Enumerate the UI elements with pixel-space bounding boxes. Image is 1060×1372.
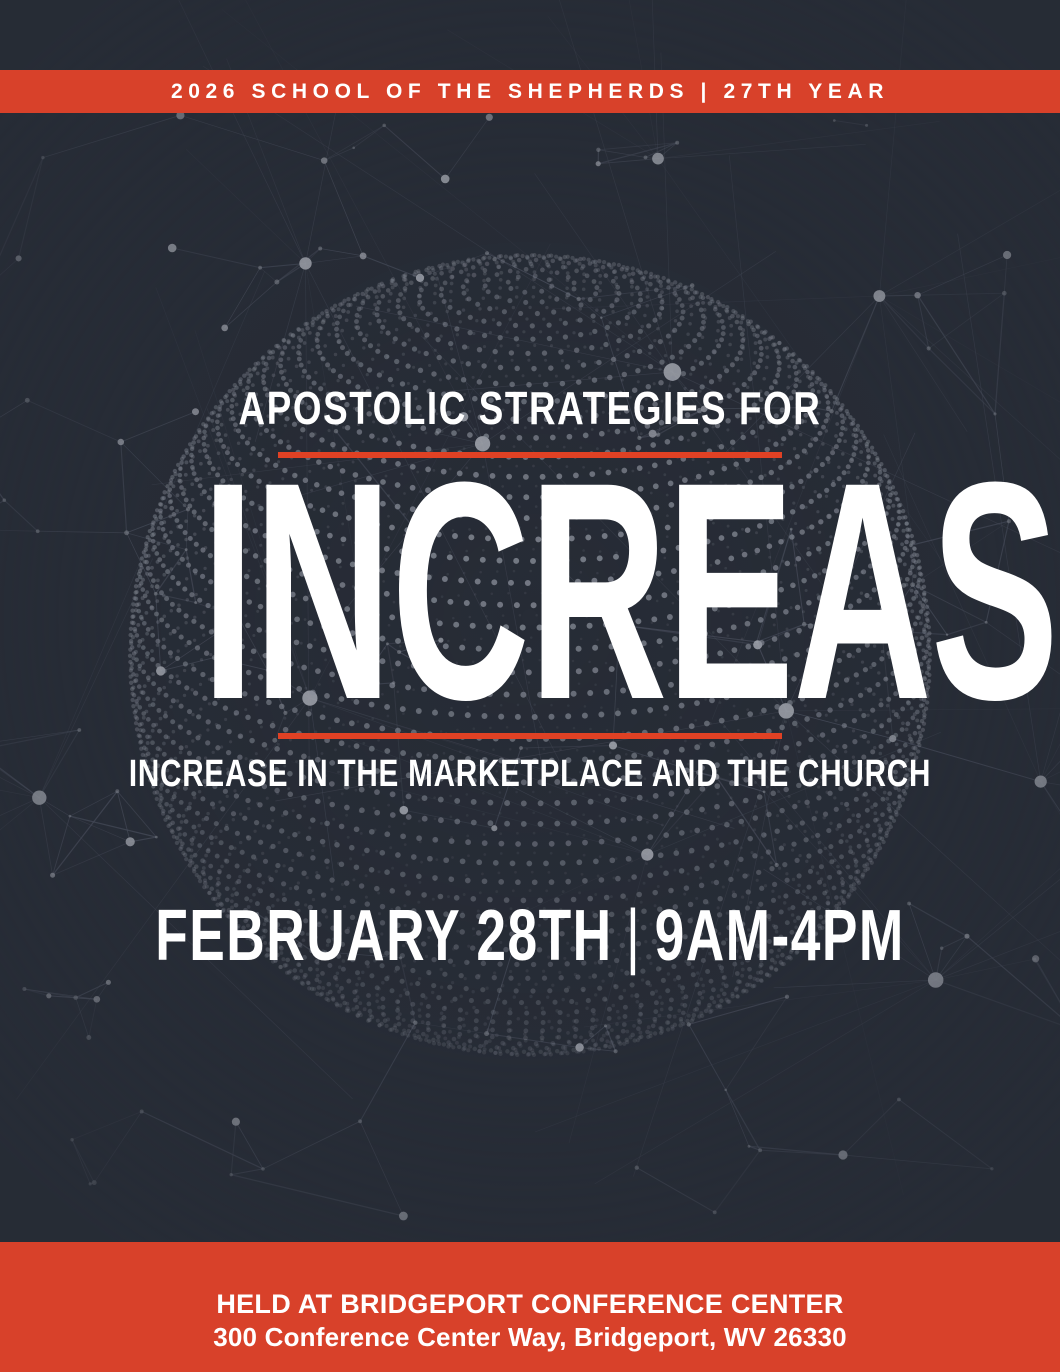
rule-below-headline bbox=[278, 733, 782, 739]
event-poster: 2026 SCHOOL OF THE SHEPHERDS | 27TH YEAR… bbox=[0, 0, 1060, 1372]
event-date: FEBRUARY 28TH bbox=[155, 896, 612, 976]
top-banner-text: 2026 SCHOOL OF THE SHEPHERDS | 27TH YEAR bbox=[171, 80, 889, 104]
datetime-separator: | bbox=[613, 900, 655, 972]
subhead-text: INCREASE IN THE MARKETPLACE AND THE CHUR… bbox=[117, 755, 944, 793]
venue-address: 300 Conference Center Way, Bridgeport, W… bbox=[213, 1321, 847, 1355]
top-banner: 2026 SCHOOL OF THE SHEPHERDS | 27TH YEAR bbox=[0, 70, 1060, 113]
datetime-line: FEBRUARY 28TH|9AM-4PM bbox=[138, 900, 922, 972]
event-time: 9AM-4PM bbox=[655, 896, 905, 976]
headline-text: INCREASE bbox=[201, 470, 858, 712]
venue-name: HELD AT BRIDGEPORT CONFERENCE CENTER bbox=[216, 1287, 843, 1321]
footer-band: HELD AT BRIDGEPORT CONFERENCE CENTER 300… bbox=[0, 1242, 1060, 1372]
